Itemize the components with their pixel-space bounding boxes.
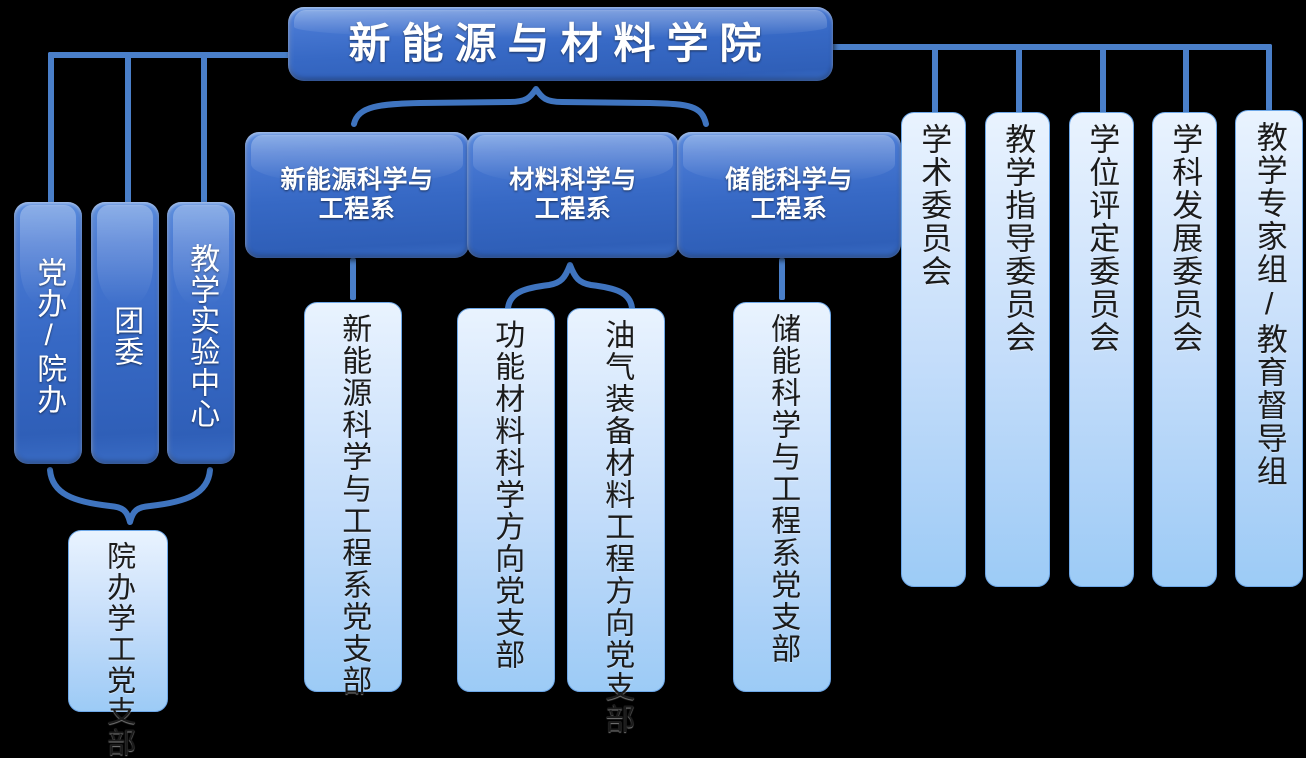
branch-box-energy-storage-party[interactable]: 储能科学与工程系党支部: [733, 302, 831, 692]
admin-label-teaching-lab-center: 教学实验中心: [185, 237, 217, 429]
committee-label-degree-evaluation: 学位评定委员会: [1085, 113, 1118, 354]
branch-box-oilgas-materials-party[interactable]: 油气装备材料工程方向党支部: [567, 308, 665, 692]
connector-left-drop-1: [48, 52, 54, 204]
committee-box-teaching-guidance[interactable]: 教学指导委员会: [985, 112, 1050, 587]
connector-left-drop-3: [201, 52, 207, 204]
branch-box-functional-materials-party[interactable]: 功能材料科学方向党支部: [457, 308, 555, 692]
branch-box-new-energy-party[interactable]: 新能源科学与工程系党支部: [304, 302, 402, 692]
committee-label-teaching-experts: 教学专家组/教育督导组: [1252, 111, 1285, 488]
branch-label-new-energy-party: 新能源科学与工程系党支部: [337, 303, 369, 697]
dept-label-materials: 材料科学与 工程系: [509, 166, 637, 224]
connector-right-drop-5: [1266, 44, 1272, 114]
connector-right-drop-3: [1100, 44, 1106, 114]
brace-material-branches: [505, 262, 635, 312]
branch-label-admin-party: 院办学工党支部: [102, 531, 133, 758]
branch-label-oilgas-materials-party: 油气装备材料工程方向党支部: [600, 309, 632, 735]
org-chart-canvas: 新能源与材料学院 党办/院办 团委 教学实验中心 院办学工党支部 新能源科学与 …: [0, 0, 1306, 713]
connector-right-drop-2: [1016, 44, 1022, 114]
admin-box-teaching-lab-center[interactable]: 教学实验中心: [167, 202, 235, 464]
committee-box-discipline-development[interactable]: 学科发展委员会: [1152, 112, 1217, 587]
brace-admin-to-branch: [48, 468, 213, 528]
admin-label-party-office: 党办/院办: [32, 251, 64, 415]
committee-label-teaching-guidance: 教学指导委员会: [1001, 113, 1034, 354]
admin-label-youth-league: 团委: [109, 299, 141, 367]
dept-box-materials[interactable]: 材料科学与 工程系: [467, 132, 679, 258]
org-title-label: 新能源与材料学院: [348, 20, 772, 69]
dept-box-new-energy[interactable]: 新能源科学与 工程系: [245, 132, 469, 258]
branch-label-functional-materials-party: 功能材料科学方向党支部: [490, 309, 522, 671]
connector-left-horizontal: [48, 52, 296, 58]
committee-box-teaching-experts[interactable]: 教学专家组/教育督导组: [1235, 110, 1303, 587]
dept-box-energy-storage[interactable]: 储能科学与 工程系: [677, 132, 901, 258]
admin-box-party-office[interactable]: 党办/院办: [14, 202, 82, 464]
brace-title-to-departments: [350, 86, 710, 128]
committee-box-academic[interactable]: 学术委员会: [901, 112, 966, 587]
connector-dept3-to-branch: [779, 258, 785, 300]
connector-right-horizontal: [830, 44, 1272, 50]
connector-dept1-to-branch: [350, 258, 356, 300]
committee-box-degree-evaluation[interactable]: 学位评定委员会: [1069, 112, 1134, 587]
branch-label-energy-storage-party: 储能科学与工程系党支部: [766, 303, 798, 665]
connector-right-drop-1: [932, 44, 938, 114]
committee-label-discipline-development: 学科发展委员会: [1168, 113, 1201, 354]
dept-label-new-energy: 新能源科学与 工程系: [280, 166, 433, 224]
connector-right-drop-4: [1183, 44, 1189, 114]
dept-label-energy-storage: 储能科学与 工程系: [725, 166, 853, 224]
admin-box-youth-league[interactable]: 团委: [91, 202, 159, 464]
branch-box-admin-party[interactable]: 院办学工党支部: [68, 530, 168, 712]
org-title-box[interactable]: 新能源与材料学院: [288, 7, 833, 81]
committee-label-academic: 学术委员会: [917, 113, 950, 288]
connector-left-drop-2: [125, 52, 131, 204]
